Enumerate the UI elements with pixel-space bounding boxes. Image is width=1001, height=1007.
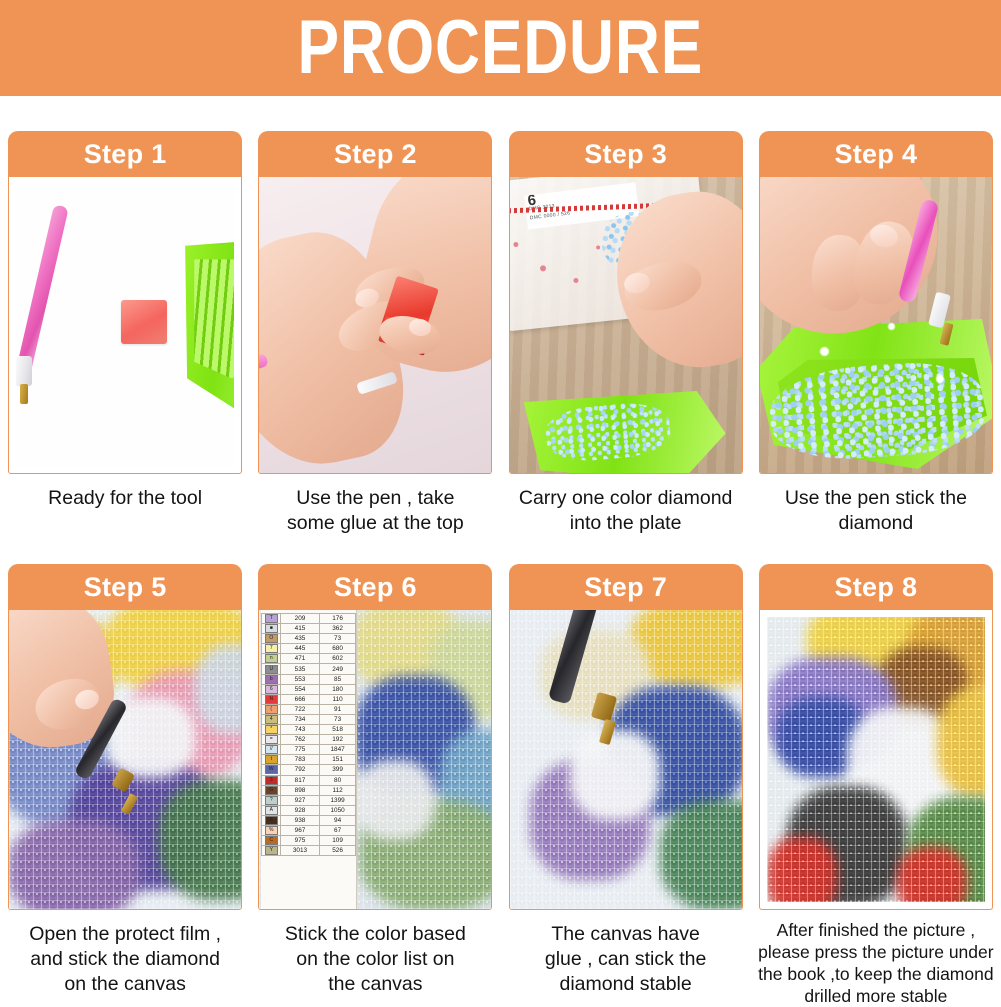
color-symbol-cell: Y bbox=[262, 846, 281, 856]
step-8-header: Step 8 bbox=[759, 564, 993, 610]
dmc-number-cell: 666 bbox=[281, 694, 320, 704]
color-symbol-cell: 7 bbox=[262, 644, 281, 654]
color-symbol-cell: ■ bbox=[262, 624, 281, 634]
dmc-number-cell: 967 bbox=[281, 825, 320, 835]
dmc-number-cell: 535 bbox=[281, 664, 320, 674]
step-5-photo bbox=[9, 610, 241, 909]
step-7-header: Step 7 bbox=[509, 564, 743, 610]
dmc-count-cell: 67 bbox=[319, 825, 356, 835]
color-chart-row: 7445680 bbox=[262, 644, 356, 654]
step-6-label: Step 6 bbox=[334, 574, 417, 601]
dmc-count-cell: 518 bbox=[319, 725, 356, 735]
dmc-count-cell: 176 bbox=[319, 614, 356, 624]
step-1-image-frame bbox=[8, 177, 242, 474]
color-symbol-cell: * bbox=[262, 725, 281, 735]
step-1-header: Step 1 bbox=[8, 131, 242, 177]
color-swatch: b bbox=[265, 675, 278, 684]
dmc-count-cell: 1050 bbox=[319, 805, 356, 815]
caption-line: Carry one color diamond bbox=[503, 486, 749, 511]
caption-line: the book ,to keep the diamond bbox=[750, 963, 1001, 985]
step-4-caption: Use the pen stick the diamond bbox=[753, 486, 999, 536]
color-chart-row: ?9271399 bbox=[262, 795, 356, 805]
color-symbol-cell: C bbox=[262, 836, 281, 846]
dmc-count-cell: 73 bbox=[319, 714, 356, 724]
color-swatch: U bbox=[265, 665, 278, 674]
dmc-count-cell: 94 bbox=[319, 815, 356, 825]
color-chart-row: b55385 bbox=[262, 674, 356, 684]
color-symbol-cell: U bbox=[262, 664, 281, 674]
color-chart-row: W792399 bbox=[262, 765, 356, 775]
dmc-count-cell: 399 bbox=[319, 765, 356, 775]
step-card-7: Step 7 bbox=[501, 564, 751, 1007]
color-swatch: * bbox=[265, 725, 278, 734]
step-card-5: Step 5 bbox=[0, 564, 250, 1007]
step-card-4: Step 4 bbox=[751, 131, 1001, 536]
pen-nib-icon bbox=[20, 384, 28, 404]
step-3-image-frame: 6 DMC 3013 DMC 0000 / 526 bbox=[509, 177, 743, 474]
color-symbol-cell: A bbox=[262, 805, 281, 815]
color-symbol-cell: 6 bbox=[262, 684, 281, 694]
dmc-count-cell: 180 bbox=[319, 684, 356, 694]
color-chart-row: N666110 bbox=[262, 694, 356, 704]
caption-line: and stick the diamond bbox=[2, 947, 248, 972]
color-chart-row: 381780 bbox=[262, 775, 356, 785]
steps-row-bottom: Step 5 bbox=[0, 564, 1001, 1007]
dmc-count-cell: 73 bbox=[319, 634, 356, 644]
step-7-caption: The canvas have glue , can stick the dia… bbox=[503, 922, 749, 997]
step-1-photo bbox=[9, 177, 241, 473]
color-swatch: // bbox=[265, 745, 278, 754]
step-card-8: Step 8 bbox=[751, 564, 1001, 1007]
dmc-count-cell: 85 bbox=[319, 674, 356, 684]
color-swatch: % bbox=[265, 826, 278, 835]
step-8-image-frame bbox=[759, 610, 993, 910]
step-1-caption: Ready for the tool bbox=[2, 486, 248, 511]
color-symbol-cell: ? bbox=[262, 795, 281, 805]
step-8-caption: After finished the picture , please pres… bbox=[750, 919, 1001, 1007]
step-card-1: Step 1 Ready for bbox=[0, 131, 250, 536]
caption-line: Stick the color based bbox=[252, 922, 498, 947]
color-symbol-cell: 8 bbox=[262, 815, 281, 825]
step-6-caption: Stick the color based on the color list … bbox=[252, 922, 498, 997]
step-8-photo bbox=[760, 610, 992, 909]
caption-line: glue , can stick the bbox=[503, 947, 749, 972]
color-chart-row: ■415362 bbox=[262, 624, 356, 634]
color-swatch: Y bbox=[265, 846, 278, 855]
color-swatch: 7 bbox=[265, 644, 278, 653]
color-chart-row: (72291 bbox=[262, 704, 356, 714]
color-swatch: N bbox=[265, 695, 278, 704]
color-swatch: G bbox=[265, 786, 278, 795]
step-4-label: Step 4 bbox=[834, 141, 917, 168]
color-chart-row: Y3013526 bbox=[262, 846, 356, 856]
dmc-number-cell: 734 bbox=[281, 714, 320, 724]
dmc-number-cell: 553 bbox=[281, 674, 320, 684]
color-swatch: A bbox=[265, 806, 278, 815]
color-symbol-cell: // bbox=[262, 745, 281, 755]
color-chart-row: *743518 bbox=[262, 725, 356, 735]
color-chart-table: T209176■415362O435737445680n471602U53524… bbox=[261, 610, 357, 909]
color-swatch: 6 bbox=[265, 685, 278, 694]
dmc-number-cell: 435 bbox=[281, 634, 320, 644]
dmc-count-cell: 1847 bbox=[319, 745, 356, 755]
caption-line: drilled more stable bbox=[750, 985, 1001, 1007]
step-6-image-frame: T209176■415362O435737445680n471602U53524… bbox=[258, 610, 492, 910]
step-7-image-frame bbox=[509, 610, 743, 910]
caption-line: Ready for the tool bbox=[2, 486, 248, 511]
caption-line: The canvas have bbox=[503, 922, 749, 947]
step-2-header: Step 2 bbox=[258, 131, 492, 177]
drill-tray-icon bbox=[179, 239, 234, 409]
color-symbol-cell: t bbox=[262, 755, 281, 765]
step-4-image-frame bbox=[759, 177, 993, 474]
dmc-number-cell: 783 bbox=[281, 755, 320, 765]
color-chart-row: 6554180 bbox=[262, 684, 356, 694]
glue-clay-icon bbox=[121, 300, 167, 344]
dmc-number-cell: 554 bbox=[281, 684, 320, 694]
color-chart-row: T209176 bbox=[262, 614, 356, 624]
color-symbol-cell: N bbox=[262, 694, 281, 704]
color-chart-row: =762192 bbox=[262, 735, 356, 745]
finished-diamond-painting bbox=[767, 617, 985, 902]
caption-line: diamond bbox=[753, 511, 999, 536]
caption-line: Use the pen , take bbox=[252, 486, 498, 511]
dmc-count-cell: 109 bbox=[319, 836, 356, 846]
color-symbol-cell: G bbox=[262, 785, 281, 795]
color-symbol-cell: 4 bbox=[262, 714, 281, 724]
procedure-infographic: PROCEDURE Step 1 bbox=[0, 0, 1001, 1001]
dmc-number-cell: 209 bbox=[281, 614, 320, 624]
color-swatch: ( bbox=[265, 705, 278, 714]
step-6-photo: T209176■415362O435737445680n471602U53524… bbox=[259, 610, 491, 909]
dmc-count-cell: 602 bbox=[319, 654, 356, 664]
dmc-number-cell: 762 bbox=[281, 735, 320, 745]
caption-line: on the canvas bbox=[2, 972, 248, 997]
color-swatch: n bbox=[265, 654, 278, 663]
steps-row-top: Step 1 Ready for bbox=[0, 131, 1001, 536]
color-swatch: 8 bbox=[265, 816, 278, 825]
color-chart-row: t783151 bbox=[262, 755, 356, 765]
color-chart-row: n471602 bbox=[262, 654, 356, 664]
step-3-photo: 6 DMC 3013 DMC 0000 / 526 bbox=[510, 177, 742, 473]
color-swatch: 4 bbox=[265, 715, 278, 724]
page-title: PROCEDURE bbox=[298, 10, 704, 86]
caption-line: on the color list on bbox=[252, 947, 498, 972]
step-3-label: Step 3 bbox=[584, 141, 667, 168]
dmc-number-cell: 722 bbox=[281, 704, 320, 714]
color-symbol-cell: O bbox=[262, 634, 281, 644]
step-card-3: Step 3 6 DMC 3013 DMC 0000 / 526 bbox=[501, 131, 751, 536]
caption-line: Use the pen stick the bbox=[753, 486, 999, 511]
caption-line: the canvas bbox=[252, 972, 498, 997]
dmc-count-cell: 80 bbox=[319, 775, 356, 785]
caption-line: After finished the picture , bbox=[750, 919, 1001, 941]
dmc-number-cell: 928 bbox=[281, 805, 320, 815]
dmc-count-cell: 151 bbox=[319, 755, 356, 765]
color-chart-row: U535249 bbox=[262, 664, 356, 674]
dmc-number-cell: 792 bbox=[281, 765, 320, 775]
dmc-number-cell: 927 bbox=[281, 795, 320, 805]
step-5-image-frame bbox=[8, 610, 242, 910]
dmc-count-cell: 112 bbox=[319, 785, 356, 795]
caption-line: Open the protect film , bbox=[2, 922, 248, 947]
color-swatch: = bbox=[265, 735, 278, 744]
step-card-2: Step 2 bbox=[250, 131, 500, 536]
step-5-header: Step 5 bbox=[8, 564, 242, 610]
dmc-number-cell: 743 bbox=[281, 725, 320, 735]
step-3-header: Step 3 bbox=[509, 131, 743, 177]
dmc-number-cell: 471 bbox=[281, 654, 320, 664]
step-2-image-frame bbox=[258, 177, 492, 474]
color-swatch: ? bbox=[265, 796, 278, 805]
color-swatch: T bbox=[265, 614, 278, 623]
color-swatch: t bbox=[265, 755, 278, 764]
step-8-label: Step 8 bbox=[834, 574, 917, 601]
step-4-photo bbox=[760, 177, 992, 473]
step-card-6: Step 6 bbox=[250, 564, 500, 1007]
step-3-caption: Carry one color diamond into the plate bbox=[503, 486, 749, 536]
color-symbol-cell: = bbox=[262, 735, 281, 745]
color-symbol-cell: W bbox=[262, 765, 281, 775]
color-swatch: ■ bbox=[265, 624, 278, 633]
step-1-label: Step 1 bbox=[84, 141, 167, 168]
dmc-number-cell: 3013 bbox=[281, 846, 320, 856]
color-swatch: W bbox=[265, 765, 278, 774]
dmc-number-cell: 775 bbox=[281, 745, 320, 755]
step-7-label: Step 7 bbox=[584, 574, 667, 601]
dmc-count-cell: 680 bbox=[319, 644, 356, 654]
color-swatch: 3 bbox=[265, 776, 278, 785]
step-2-label: Step 2 bbox=[334, 141, 417, 168]
step-2-photo bbox=[259, 177, 491, 473]
dmc-number-cell: 938 bbox=[281, 815, 320, 825]
dmc-count-cell: 362 bbox=[319, 624, 356, 634]
color-chart-row: A9281050 bbox=[262, 805, 356, 815]
color-symbol-cell: n bbox=[262, 654, 281, 664]
header-banner: PROCEDURE bbox=[0, 0, 1001, 96]
color-chart-row: 473473 bbox=[262, 714, 356, 724]
color-symbol-cell: b bbox=[262, 674, 281, 684]
dmc-count-cell: 192 bbox=[319, 735, 356, 745]
caption-line: into the plate bbox=[503, 511, 749, 536]
step-5-label: Step 5 bbox=[84, 574, 167, 601]
step-6-header: Step 6 bbox=[258, 564, 492, 610]
diamond-pen-icon bbox=[16, 204, 69, 381]
pen-tip-cap bbox=[16, 356, 32, 386]
dmc-count-cell: 249 bbox=[319, 664, 356, 674]
dmc-number-cell: 898 bbox=[281, 785, 320, 795]
color-chart-row: //7751847 bbox=[262, 745, 356, 755]
color-chart-row: O43573 bbox=[262, 634, 356, 644]
color-symbol-cell: % bbox=[262, 825, 281, 835]
dmc-number-cell: 975 bbox=[281, 836, 320, 846]
color-swatch: C bbox=[265, 836, 278, 845]
color-chart-row: G898112 bbox=[262, 785, 356, 795]
color-chart-row: C975109 bbox=[262, 836, 356, 846]
dmc-count-cell: 91 bbox=[319, 704, 356, 714]
diamond-canvas bbox=[510, 610, 742, 909]
step-5-caption: Open the protect film , and stick the di… bbox=[2, 922, 248, 997]
color-symbol-cell: ( bbox=[262, 704, 281, 714]
color-symbol-cell: T bbox=[262, 614, 281, 624]
dmc-count-cell: 526 bbox=[319, 846, 356, 856]
step-7-photo bbox=[510, 610, 742, 909]
dmc-number-cell: 415 bbox=[281, 624, 320, 634]
caption-line: some glue at the top bbox=[252, 511, 498, 536]
step-2-caption: Use the pen , take some glue at the top bbox=[252, 486, 498, 536]
step-4-header: Step 4 bbox=[759, 131, 993, 177]
color-swatch: O bbox=[265, 634, 278, 643]
color-chart: T209176■415362O435737445680n471602U53524… bbox=[261, 613, 356, 856]
color-chart-row: %96767 bbox=[262, 825, 356, 835]
dmc-count-cell: 110 bbox=[319, 694, 356, 704]
color-symbol-cell: 3 bbox=[262, 775, 281, 785]
dmc-number-cell: 445 bbox=[281, 644, 320, 654]
caption-line: please press the picture under bbox=[750, 941, 1001, 963]
caption-line: diamond stable bbox=[503, 972, 749, 997]
dmc-count-cell: 1399 bbox=[319, 795, 356, 805]
dmc-number-cell: 817 bbox=[281, 775, 320, 785]
color-chart-row: 893894 bbox=[262, 815, 356, 825]
